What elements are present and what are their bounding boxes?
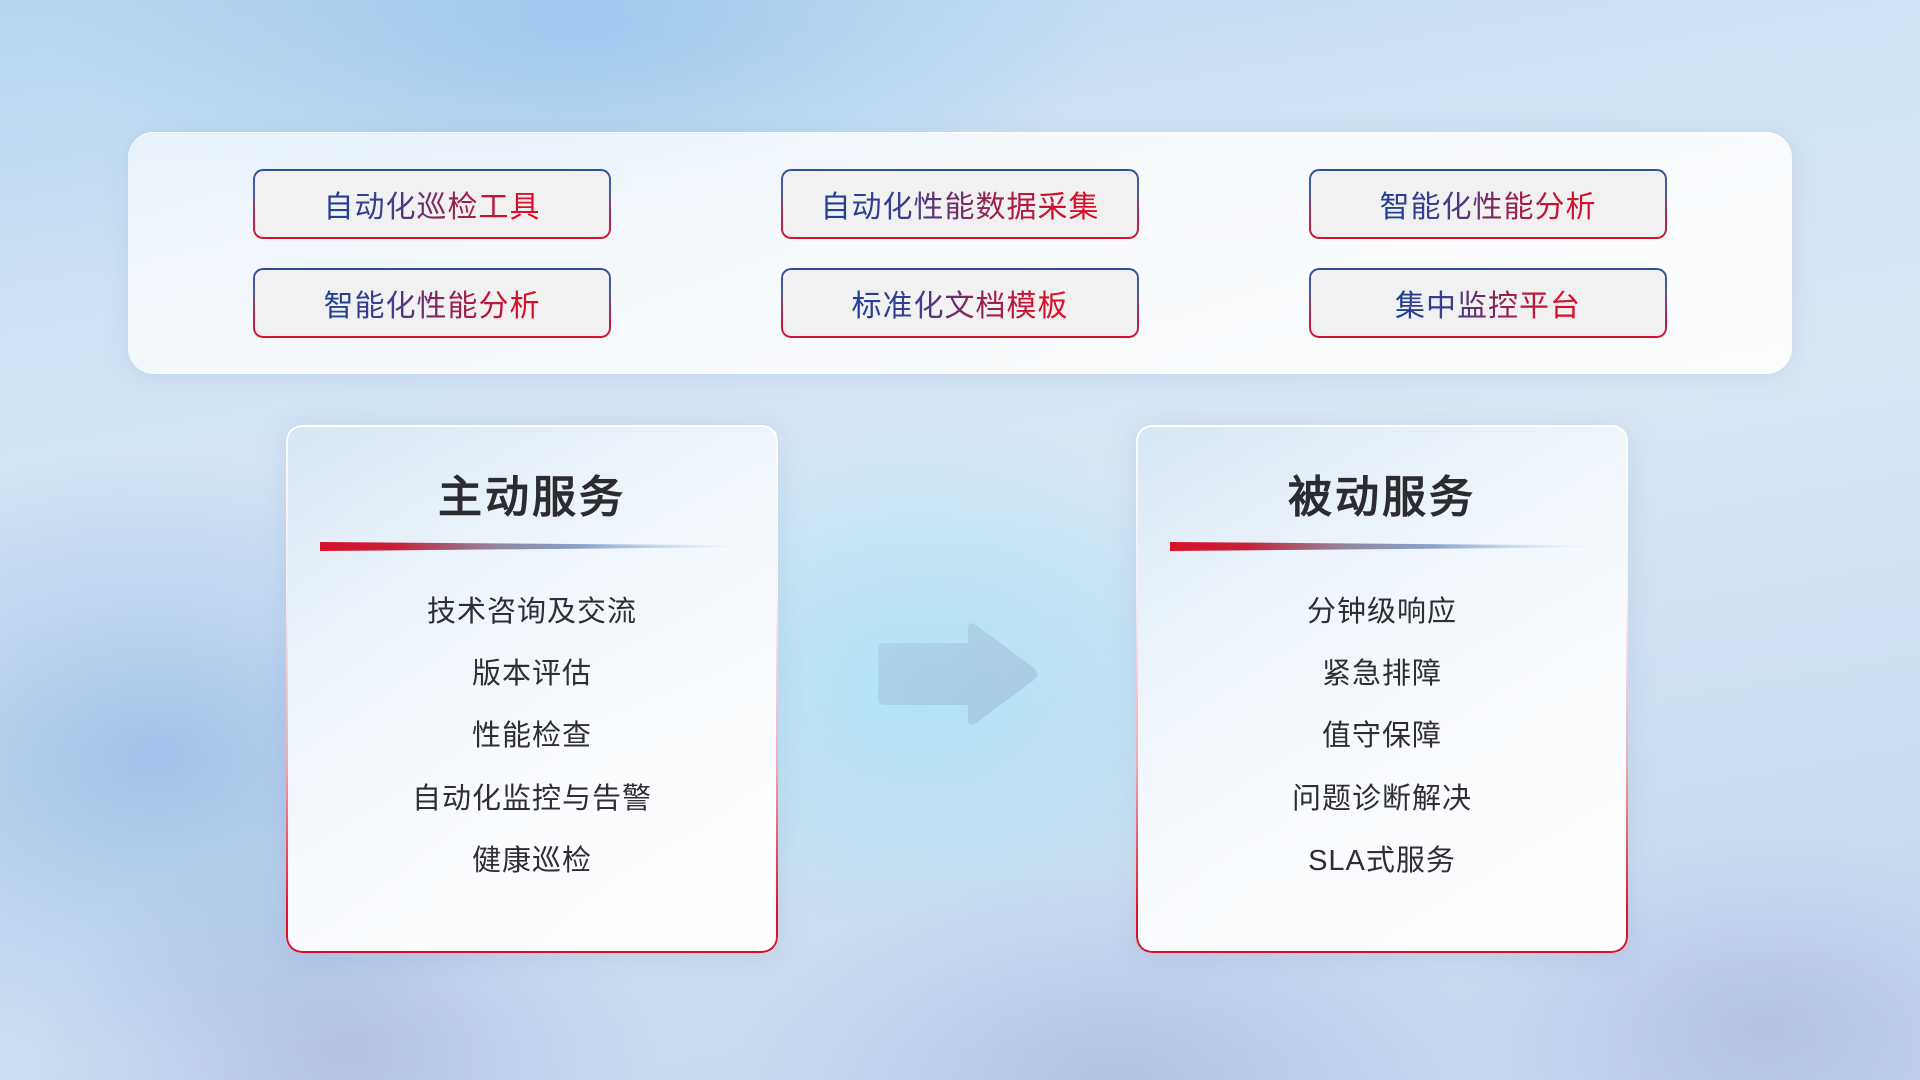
service-item: SLA式服务 bbox=[1160, 830, 1604, 892]
service-item: 技术咨询及交流 bbox=[310, 581, 754, 643]
service-item-list: 技术咨询及交流 版本评估 性能检查 自动化监控与告警 健康巡检 bbox=[310, 581, 754, 892]
capability-chip-4[interactable]: 智能化性能分析 bbox=[253, 268, 611, 338]
capability-chip-1[interactable]: 自动化巡检工具 bbox=[253, 169, 611, 239]
service-card-passive: 被动服务 分钟级响应 紧急排障 值守保障 问题诊断解决 SLA式服务 bbox=[1136, 425, 1628, 953]
arrow-right-icon bbox=[872, 620, 1040, 728]
capability-chip-label: 集中监控平台 bbox=[1395, 281, 1581, 325]
capability-chip-label: 自动化巡检工具 bbox=[324, 182, 541, 226]
capability-chip-2[interactable]: 自动化性能数据采集 bbox=[781, 169, 1139, 239]
service-item: 健康巡检 bbox=[310, 830, 754, 892]
service-item: 值守保障 bbox=[1160, 705, 1604, 767]
capability-chip-6[interactable]: 集中监控平台 bbox=[1309, 268, 1667, 338]
capability-chip-3[interactable]: 智能化性能分析 bbox=[1309, 169, 1667, 239]
service-card-active: 主动服务 技术咨询及交流 版本评估 性能检查 自动化监控与告警 健康巡检 bbox=[286, 425, 778, 953]
card-title: 主动服务 bbox=[438, 461, 626, 525]
capability-chip-5[interactable]: 标准化文档模板 bbox=[781, 268, 1139, 338]
capability-chip-label: 标准化文档模板 bbox=[852, 281, 1069, 325]
service-item: 自动化监控与告警 bbox=[310, 768, 754, 830]
card-title: 被动服务 bbox=[1288, 461, 1476, 525]
capability-chip-label: 智能化性能分析 bbox=[1380, 182, 1597, 226]
service-item: 版本评估 bbox=[310, 643, 754, 705]
service-item: 分钟级响应 bbox=[1160, 581, 1604, 643]
title-divider bbox=[1170, 539, 1594, 553]
title-divider bbox=[320, 539, 744, 553]
service-item: 问题诊断解决 bbox=[1160, 768, 1604, 830]
service-item: 性能检查 bbox=[310, 705, 754, 767]
capability-chip-label: 自动化性能数据采集 bbox=[821, 182, 1100, 226]
capability-panel: 自动化巡检工具 自动化性能数据采集 智能化性能分析 智能化性能分析 标准化文档模… bbox=[128, 132, 1792, 374]
service-item-list: 分钟级响应 紧急排障 值守保障 问题诊断解决 SLA式服务 bbox=[1160, 581, 1604, 892]
capability-chip-label: 智能化性能分析 bbox=[324, 281, 541, 325]
service-item: 紧急排障 bbox=[1160, 643, 1604, 705]
